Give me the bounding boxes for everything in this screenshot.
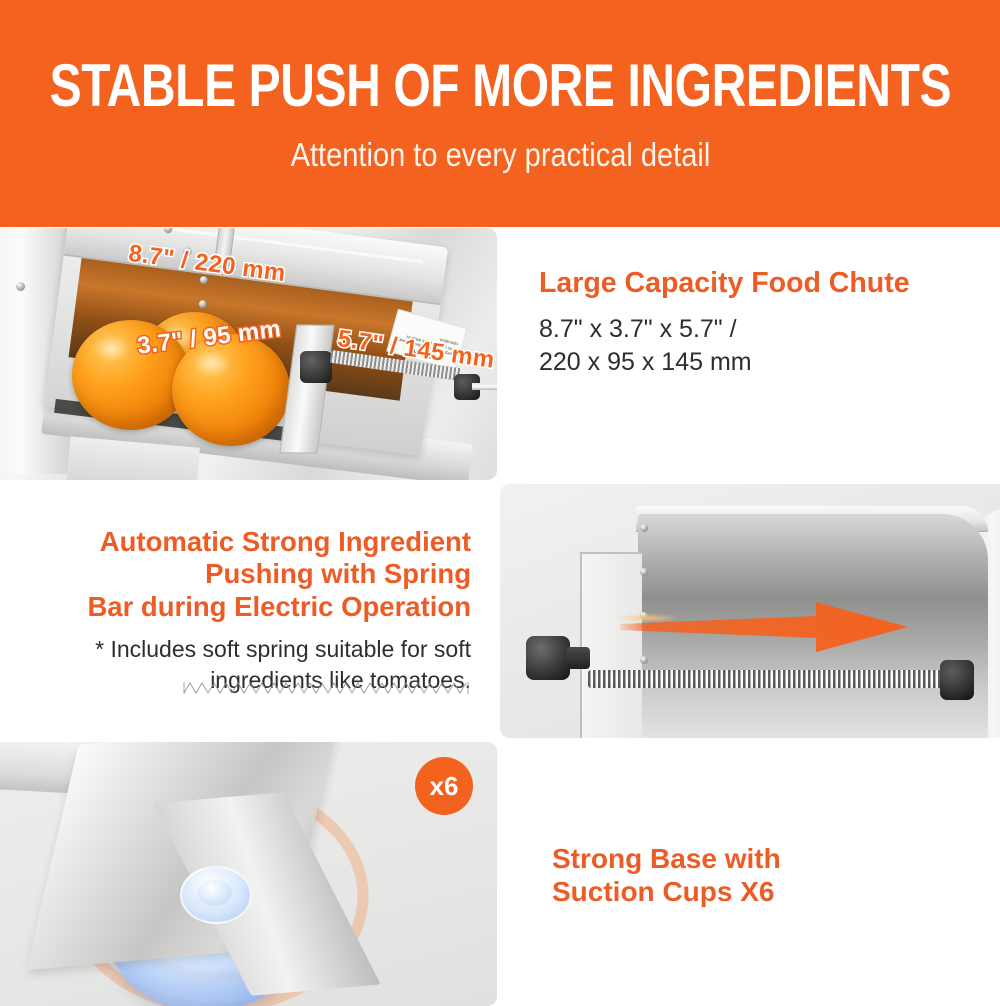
food-chute-text-panel: Large Capacity Food Chute 8.7" x 3.7" x … bbox=[500, 228, 1000, 480]
feature-heading-suction-cups: Strong Base with Suction Cups X6 bbox=[552, 842, 781, 908]
quantity-badge-x6: x6 bbox=[415, 757, 473, 815]
pusher-knob bbox=[300, 351, 332, 383]
threaded-spring-rod bbox=[588, 670, 946, 688]
knob-stem bbox=[566, 647, 590, 669]
direction-arrow-icon bbox=[620, 602, 910, 657]
feature-spec-food-chute: 8.7" x 3.7" x 5.7" / 220 x 95 x 145 mm bbox=[539, 313, 910, 380]
coil-spring-icon bbox=[182, 680, 472, 696]
adjustment-knob bbox=[526, 636, 570, 680]
feature-heading-food-chute: Large Capacity Food Chute bbox=[539, 267, 910, 301]
spring-bar-text-panel: Automatic Strong Ingredient Pushing with… bbox=[0, 484, 497, 738]
spring-bar-photo bbox=[500, 484, 1000, 738]
page-title: STABLE PUSH OF MORE INGREDIENTS bbox=[49, 56, 950, 116]
rod-shaft bbox=[472, 383, 497, 390]
housing-rivet-icon bbox=[16, 282, 25, 291]
rod-end-knob bbox=[940, 660, 974, 700]
page-subtitle: Attention to every practical detail bbox=[290, 138, 710, 171]
header-banner: STABLE PUSH OF MORE INGREDIENTS Attentio… bbox=[0, 0, 1000, 227]
suction-cup-nub-highlight bbox=[198, 880, 232, 906]
suction-cup-text-panel: Strong Base with Suction Cups X6 bbox=[500, 742, 1000, 1006]
coil-spring-image bbox=[22, 680, 472, 701]
feature-heading-spring-bar: Automatic Strong Ingredient Pushing with… bbox=[26, 526, 471, 623]
